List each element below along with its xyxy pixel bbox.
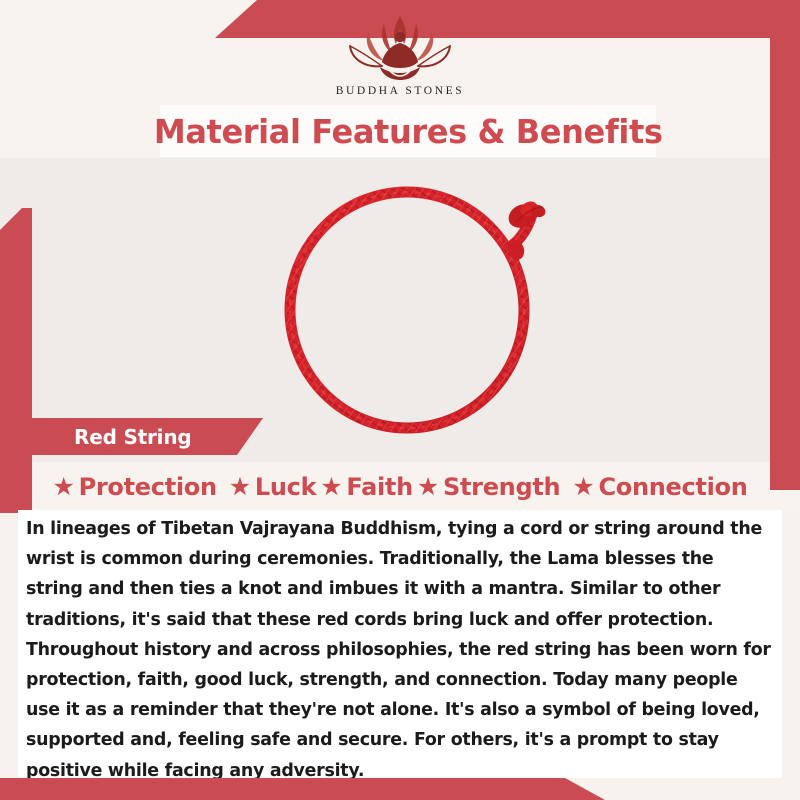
red-string-bracelet-illustration xyxy=(250,162,570,442)
feature-item-luck: ★ Luck xyxy=(229,473,317,501)
body-copy: In lineages of Tibetan Vajrayana Buddhis… xyxy=(26,514,774,786)
lotus-meditation-icon xyxy=(334,12,466,84)
star-icon: ★ xyxy=(572,474,594,499)
title-plate: Material Features & Benefits xyxy=(160,105,656,157)
right-red-strip xyxy=(770,38,800,490)
star-icon: ★ xyxy=(320,474,342,499)
section-label: Red String xyxy=(74,425,191,449)
feature-item-strength: ★ Strength xyxy=(417,473,560,501)
page-title: Material Features & Benefits xyxy=(154,112,663,151)
bottom-red-ribbon xyxy=(0,778,640,800)
section-label-ribbon: Red String xyxy=(18,418,263,455)
feature-label: Luck xyxy=(255,473,316,501)
features-row: ★ Protection ★ Luck ★ Faith ★ Strength ★… xyxy=(0,466,800,508)
feature-item-protection: ★ Protection xyxy=(52,473,216,501)
infographic-page: BUDDHA STONES Material Features & Benefi… xyxy=(0,0,800,800)
feature-label: Faith xyxy=(346,473,412,501)
star-icon: ★ xyxy=(229,474,251,499)
star-icon: ★ xyxy=(417,474,439,499)
star-icon: ★ xyxy=(52,474,74,499)
feature-label: Connection xyxy=(598,473,747,501)
product-image xyxy=(250,162,570,442)
feature-item-faith: ★ Faith xyxy=(320,473,413,501)
feature-label: Protection xyxy=(79,473,217,501)
brand-name: BUDDHA STONES xyxy=(336,85,464,97)
brand-logo: BUDDHA STONES xyxy=(0,12,800,97)
feature-label: Strength xyxy=(443,473,560,501)
feature-item-connection: ★ Connection xyxy=(572,473,747,501)
